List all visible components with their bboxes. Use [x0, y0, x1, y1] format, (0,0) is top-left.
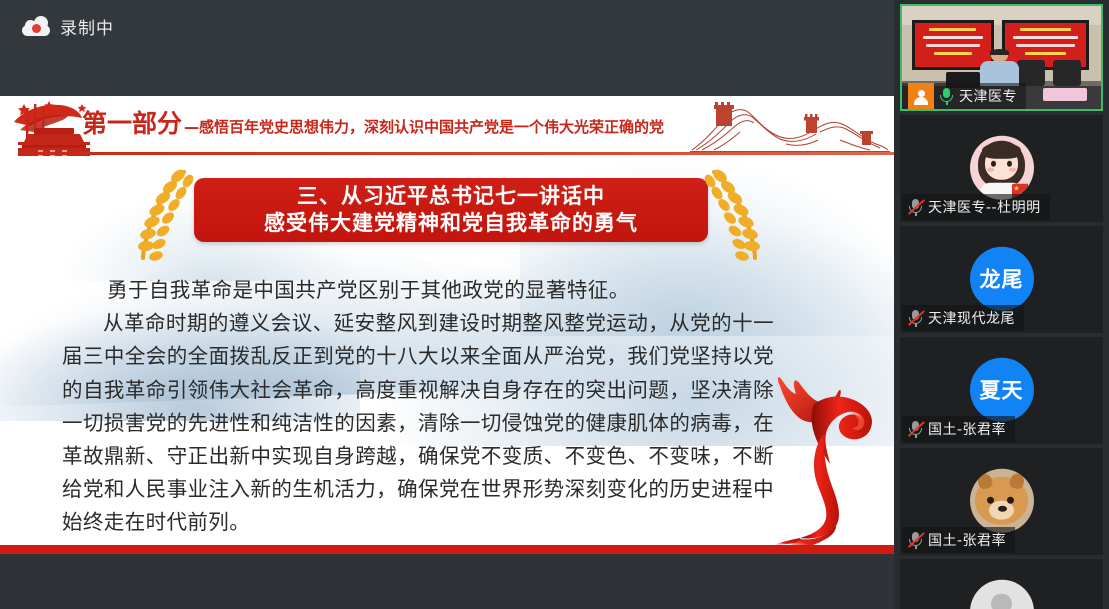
avatar: 龙尾 [970, 246, 1034, 310]
slide-bottom-bar [0, 545, 894, 554]
recording-indicator: 录制中 [22, 14, 114, 39]
header-rule [38, 152, 894, 155]
microphone-muted-icon[interactable] [908, 310, 923, 327]
participant-name: 天津医专--杜明明 [928, 197, 1041, 217]
participant-label: 天津现代龙尾 [902, 305, 1024, 331]
participant-tile[interactable]: 龙尾 天津现代龙尾 [900, 226, 1103, 333]
slide-header: 第一部分 —感悟百年党史思想伟力，深刻认识中国共产党是一个伟大光荣正确的党 [0, 96, 894, 158]
microphone-muted-icon[interactable] [908, 532, 923, 549]
participant-tile[interactable]: 夏天 国土-张君率 [900, 337, 1103, 444]
header-title-main: 第一部分 [82, 104, 182, 140]
avatar [970, 579, 1034, 609]
participant-label: 国土-张君率 [902, 527, 1015, 553]
slide-title-banner: 三、从习近平总书记七一讲话中 感受伟大建党精神和党自我革命的勇气 [194, 178, 708, 242]
avatar [970, 468, 1034, 532]
avatar-initials: 龙尾 [980, 263, 1024, 293]
red-silk-ribbon-icon [770, 366, 894, 554]
slide-title-line1: 三、从习近平总书记七一讲话中 [297, 183, 605, 210]
slide-paragraph-1: 勇于自我革命是中国共产党区别于其他政党的显著特征。 [62, 274, 774, 307]
participant-rail[interactable]: 天津医专 天津医专--杜明明 龙尾 天津现代龙尾 [894, 0, 1109, 609]
participant-name: 天津医专 [959, 86, 1017, 106]
avatar [970, 135, 1034, 199]
presenter-figure [980, 49, 1020, 86]
microphone-on-icon[interactable] [939, 88, 954, 105]
participant-label: 国土-张君率 [902, 416, 1015, 442]
participant-tile[interactable]: 天津医专 [900, 4, 1103, 111]
participant-tile[interactable]: 天津医专--杜明明 [900, 115, 1103, 222]
participant-name: 国土-张君率 [928, 419, 1006, 439]
stage-background [0, 554, 894, 609]
participant-tile[interactable] [900, 559, 1103, 609]
great-wall-illustration-icon [690, 100, 890, 154]
person-badge-icon [908, 83, 934, 109]
wheat-ear-icon [700, 166, 772, 262]
participant-tile[interactable]: 国土-张君率 [900, 448, 1103, 555]
participant-label: 天津医专 [902, 83, 1026, 109]
participant-label: 天津医专--杜明明 [902, 194, 1050, 220]
microphone-muted-icon[interactable] [908, 421, 923, 438]
slide-paragraph-2: 从革命时期的遵义会议、延安整风到建设时期整风整党运动，从党的十一届三中全会的全面… [62, 307, 774, 539]
cloud-record-icon [22, 18, 50, 36]
header-title-sub: —感悟百年党史思想伟力，深刻认识中国共产党是一个伟大光荣正确的党 [184, 116, 664, 137]
slide-title-line2: 感受伟大建党精神和党自我革命的勇气 [264, 210, 638, 237]
recording-label: 录制中 [60, 14, 114, 39]
top-bar: 录制中 [0, 0, 894, 96]
participant-name: 天津现代龙尾 [928, 308, 1015, 328]
header-title: 第一部分 —感悟百年党史思想伟力，深刻认识中国共产党是一个伟大光荣正确的党 [82, 104, 664, 140]
avatar-initials: 夏天 [980, 374, 1024, 404]
presentation-slide: 第一部分 —感悟百年党史思想伟力，深刻认识中国共产党是一个伟大光荣正确的党 [0, 96, 894, 554]
slide-body: 勇于自我革命是中国共产党区别于其他政党的显著特征。 从革命时期的遵义会议、延安整… [62, 274, 774, 540]
slide-title-zone: 三、从习近平总书记七一讲话中 感受伟大建党精神和党自我革命的勇气 [0, 158, 894, 268]
avatar: 夏天 [970, 357, 1034, 421]
microphone-muted-icon[interactable] [908, 199, 923, 216]
participant-name: 国土-张君率 [928, 530, 1006, 550]
wheat-ear-icon [126, 166, 198, 262]
